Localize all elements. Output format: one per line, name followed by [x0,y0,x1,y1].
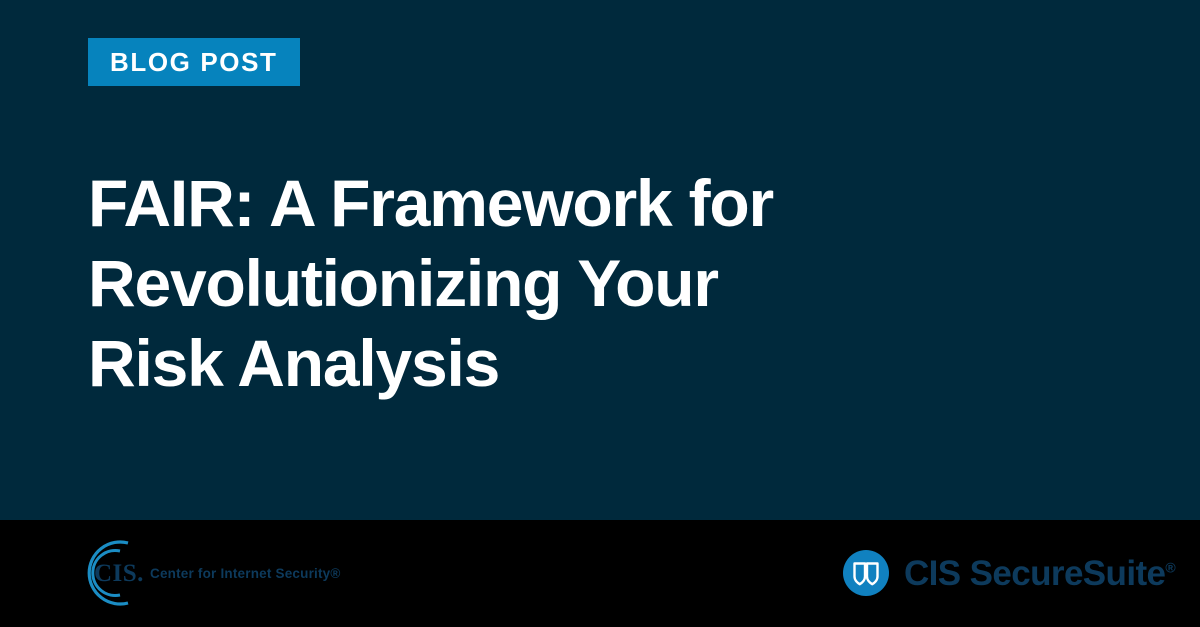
shield-icon [843,550,889,596]
blog-post-badge: BLOG POST [88,38,300,86]
registered-trademark-mark: ® [1165,559,1175,575]
page-title-line-2: Revolutionizing Your [88,243,1048,323]
page-title-line-1: FAIR: A Framework for [88,163,1048,243]
cis-securesuite-wordmark: CIS SecureSuite® [904,556,1176,591]
footer-bar: CIS. Center for Internet Security® CIS [0,520,1200,627]
blog-post-badge-label: BLOG POST [110,49,278,75]
blog-post-social-card: BLOG POST FAIR: A Framework for Revoluti… [0,0,1200,627]
page-title-line-3: Risk Analysis [88,323,1048,403]
page-title: FAIR: A Framework for Revolutionizing Yo… [88,163,1048,403]
cis-securesuite-logo: CIS SecureSuite® [843,548,1176,598]
hero-section: BLOG POST FAIR: A Framework for Revoluti… [0,0,1200,520]
cis-arcs-mark-icon: CIS. [68,536,144,610]
cis-logo-tagline: Center for Internet Security® [150,566,341,581]
svg-text:CIS.: CIS. [94,560,144,587]
cis-logo: CIS. Center for Internet Security® [68,536,358,610]
cis-securesuite-wordmark-text: CIS SecureSuite [904,554,1165,593]
